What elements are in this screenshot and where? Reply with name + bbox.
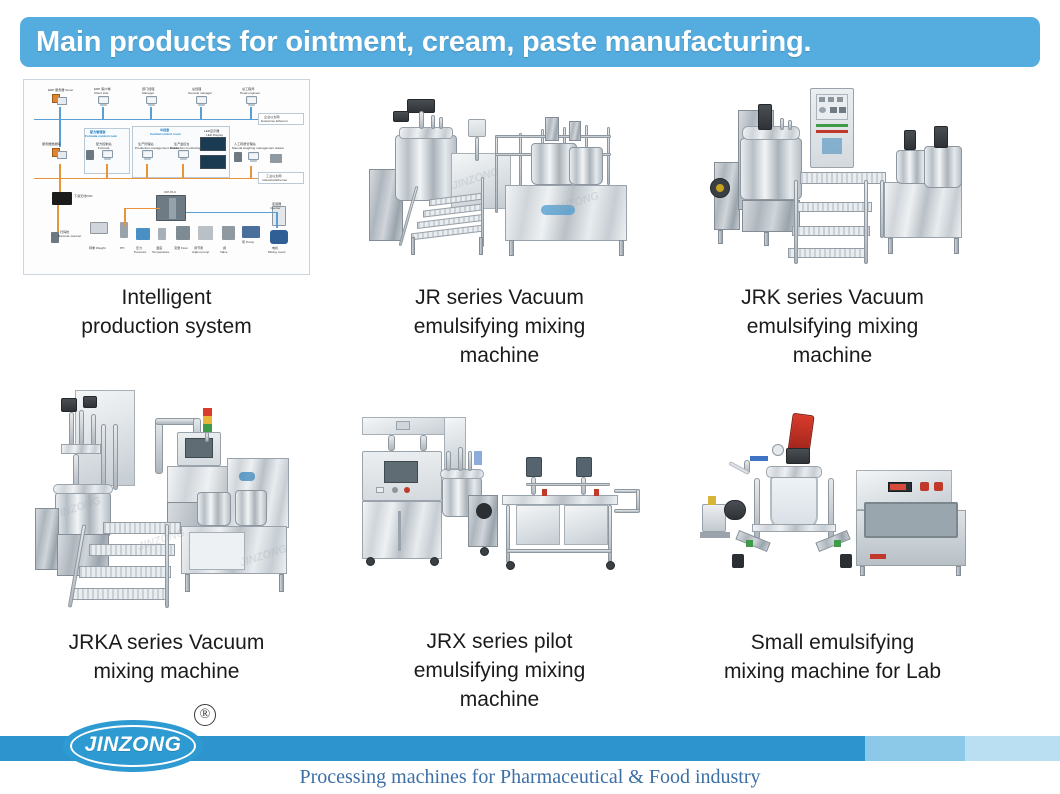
- logo-wordmark: JINZONG: [63, 733, 203, 757]
- diagram-connector: [59, 164, 61, 178]
- diagram-label-temperature-en: Temperature: [152, 250, 169, 254]
- header-banner: Main products for ointment, cream, paste…: [20, 17, 1040, 67]
- caption-line: emulsifying mixing: [414, 312, 586, 341]
- caption-line: JRX series pilot: [414, 627, 586, 656]
- scanner-icon: [234, 152, 242, 162]
- footer-tagline: Processing machines for Pharmaceutical &…: [0, 766, 1060, 789]
- page-title: Main products for ointment, cream, paste…: [20, 26, 811, 59]
- diagram-connector: [182, 164, 184, 178]
- wireless-pad-icon: [52, 192, 72, 205]
- led-display-icon: [200, 155, 226, 169]
- product-caption: JRKA series Vacuum mixing machine: [63, 624, 271, 686]
- slide-page: Main products for ointment, cream, paste…: [0, 0, 1060, 794]
- caption-line: machine: [741, 341, 924, 370]
- product-media: [666, 374, 999, 624]
- diagram-label-manual-weighing-en: Manual weighing management station: [232, 146, 284, 150]
- weighing-device-icon: [270, 154, 282, 163]
- caption-line: emulsifying mixing: [741, 312, 924, 341]
- product-card-intelligent-production-system[interactable]: ERP 服务器 Sever ERP 客户端 Client side 部门经理 M…: [0, 74, 333, 374]
- diagram-label-general-manager-en: General manager: [188, 91, 212, 95]
- diagram-connector: [146, 164, 148, 178]
- diagram-label-head-engineer-en: Head engineer: [240, 91, 260, 95]
- product-card-jr-series[interactable]: JINZONG JINZONG JR series Vacuum emulsif…: [333, 74, 666, 374]
- diagram-connector: [124, 208, 126, 226]
- led-display-icon: [200, 137, 226, 151]
- caption-line: JRKA series Vacuum: [69, 628, 265, 657]
- product-media: [666, 74, 999, 279]
- footer-bar-segment-2: [865, 736, 965, 761]
- diagram-connector: [59, 107, 61, 119]
- pump-icon: [242, 226, 260, 238]
- product-caption: JRX series pilot emulsifying mixing mach…: [408, 623, 592, 714]
- enterprise-ethernet-bus: [34, 119, 284, 121]
- diagram-label-inverter-en: Inverter: [270, 206, 281, 210]
- lab-emulsifier-with-water-bath-photo: [688, 404, 978, 594]
- diagram-label-barcode-en: Barcode scanner: [58, 234, 81, 238]
- diagram-connector: [57, 205, 59, 233]
- diagram-connector: [106, 164, 108, 178]
- diagram-label-flow: 流量 Flow: [174, 246, 188, 250]
- product-caption: JRK series Vacuum emulsifying mixing mac…: [735, 279, 930, 370]
- diagram-label-central-room-en: Central control room: [150, 132, 181, 136]
- diagram-connector: [150, 107, 152, 119]
- diagram-label-formula-room-en: Formula control room: [85, 134, 117, 138]
- vacuum-emulsifier-with-platform-photo: JINZONG JINZONG: [355, 77, 645, 277]
- diagram-connector: [250, 166, 252, 178]
- product-media: [333, 374, 666, 623]
- computer-icon: [176, 150, 191, 162]
- diagram-connector: [124, 208, 160, 210]
- product-card-jrx-series[interactable]: JRX series pilot emulsifying mixing mach…: [333, 374, 666, 714]
- diagram-label-wireless-pad: 下载无线PAD: [74, 194, 93, 198]
- diagram-label-erp-server: ERP 服务器 Sever: [48, 88, 73, 92]
- product-media: JINZONG JINZONG JINZONG: [0, 374, 333, 624]
- diagram-label-plc: CIP-PLC: [164, 190, 176, 194]
- diagram-label-weight: 称重 Weight: [89, 246, 106, 250]
- caption-line: Intelligent: [81, 283, 251, 312]
- diagram-connector: [200, 107, 202, 119]
- computer-icon: [246, 152, 261, 164]
- large-vacuum-mixer-photo: JINZONG JINZONG JINZONG: [17, 374, 317, 624]
- footer-bar-segment-3: [965, 736, 1060, 761]
- product-media: JINZONG JINZONG: [333, 74, 666, 279]
- industrial-ethernet-bus: [34, 178, 284, 180]
- system-architecture-diagram: ERP 服务器 Sever ERP 客户端 Client side 部门经理 M…: [23, 79, 310, 275]
- product-card-jrka-series[interactable]: JINZONG JINZONG JINZONG JRKA series Vacu…: [0, 374, 333, 714]
- diagram-label-pump: 泵 Pump: [242, 240, 254, 244]
- diagram-label-motor-en: Mixing motor: [268, 250, 286, 254]
- caption-line: mixing machine: [69, 657, 265, 686]
- plc-icon: [156, 195, 186, 221]
- computer-icon: [100, 150, 115, 162]
- pilot-emulsifier-with-trolley-photo: [350, 399, 650, 599]
- flow-sensor-icon: [176, 226, 190, 240]
- diagram-label-adjust-pump-en: Adjust pump: [192, 250, 209, 254]
- caption-line: machine: [414, 685, 586, 714]
- product-caption: Intelligent production system: [75, 279, 257, 341]
- caption-line: JR series Vacuum: [414, 283, 586, 312]
- diagram-connector: [186, 212, 276, 214]
- temperature-sensor-icon: [158, 228, 166, 240]
- product-caption: JR series Vacuum emulsifying mixing mach…: [408, 279, 592, 370]
- weight-sensor-icon: [90, 222, 108, 234]
- product-grid: ERP 服务器 Sever ERP 客户端 Client side 部门经理 M…: [0, 74, 1060, 734]
- server-icon: [52, 94, 68, 108]
- diagram-connector: [102, 107, 104, 119]
- diagram-connector: [276, 212, 278, 228]
- bus-label-enterprise-en: Enterprise Ethernet: [261, 119, 288, 123]
- diagram-label-manager-en: Manager: [142, 91, 154, 95]
- adjust-pump-icon: [198, 226, 213, 240]
- diagram-label-server-db: 服务器数据库: [42, 142, 61, 146]
- mixing-motor-icon: [270, 230, 288, 244]
- server-icon: [52, 148, 68, 162]
- valve-icon: [222, 226, 235, 240]
- diagram-label-pressure-en: Pressure: [134, 250, 146, 254]
- caption-line: mixing machine for Lab: [724, 657, 941, 686]
- product-card-small-lab[interactable]: Small emulsifying mixing machine for Lab: [666, 374, 999, 714]
- pressure-sensor-icon: [136, 228, 150, 240]
- caption-line: emulsifying mixing: [414, 656, 586, 685]
- diagram-connector: [250, 107, 252, 119]
- product-row-1: ERP 服务器 Sever ERP 客户端 Client side 部门经理 M…: [0, 74, 1060, 374]
- caption-line: production system: [81, 312, 251, 341]
- caption-line: Small emulsifying: [724, 628, 941, 657]
- diagram-connector: [59, 178, 61, 192]
- diagram-label-ph: PH: [120, 246, 124, 250]
- computer-icon: [140, 150, 155, 162]
- diagram-label-erp-client-en: Client side: [94, 91, 108, 95]
- product-media: ERP 服务器 Sever ERP 客户端 Client side 部门经理 M…: [0, 74, 333, 279]
- caption-line: machine: [414, 341, 586, 370]
- registered-trademark-icon: ®: [194, 704, 216, 726]
- caption-line: JRK series Vacuum: [741, 283, 924, 312]
- diagram-label-valve-en: Valve: [220, 250, 228, 254]
- product-row-2: JINZONG JINZONG JINZONG JRKA series Vacu…: [0, 374, 1060, 714]
- scanner-icon: [86, 150, 94, 160]
- product-card-jrk-series[interactable]: JRK series Vacuum emulsifying mixing mac…: [666, 74, 999, 374]
- product-caption: Small emulsifying mixing machine for Lab: [718, 624, 947, 686]
- bus-label-industrial-en: Industrial Ethernet: [262, 178, 287, 182]
- vacuum-emulsifier-with-control-cabinet-photo: [688, 74, 978, 279]
